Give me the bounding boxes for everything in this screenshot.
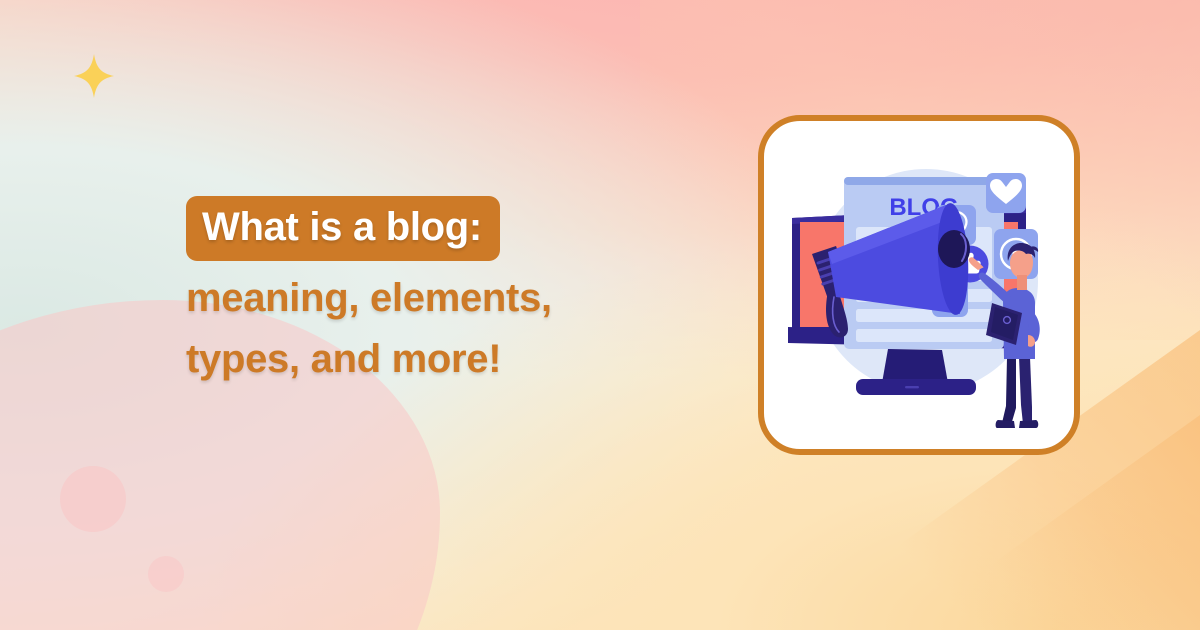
blog-text-line-3	[856, 329, 992, 342]
blogging-illustration: BLOG	[764, 121, 1074, 449]
heart-icon-tile	[986, 173, 1026, 213]
person-neck	[1017, 275, 1027, 290]
person-leg-left	[1002, 357, 1016, 425]
illustration-card-inner: BLOG	[764, 121, 1074, 449]
monitor-stand-neck	[882, 349, 948, 383]
headline-highlight-line: What is a blog:	[186, 196, 706, 261]
person-leg-right	[1019, 357, 1032, 424]
person-shoe-right	[1019, 420, 1038, 428]
sparkle-icon	[74, 54, 114, 98]
pink-circle-large	[60, 466, 126, 532]
blog-text-line-2	[856, 309, 992, 322]
illustration-card: BLOG	[758, 115, 1080, 455]
illustration-svg: BLOG	[764, 121, 1074, 449]
person-shoe-left	[996, 420, 1015, 428]
person-head	[1010, 250, 1033, 278]
pink-circle-small	[148, 556, 184, 592]
blog-page-card-topbar	[844, 177, 1004, 185]
headline-block: What is a blog: meaning, elements, types…	[186, 196, 706, 390]
monitor-stand-base-notch	[905, 386, 919, 388]
headline-highlight-chip: What is a blog:	[186, 196, 500, 261]
headline-line-2: meaning, elements,	[186, 268, 706, 329]
headline-line-3: types, and more!	[186, 329, 706, 390]
